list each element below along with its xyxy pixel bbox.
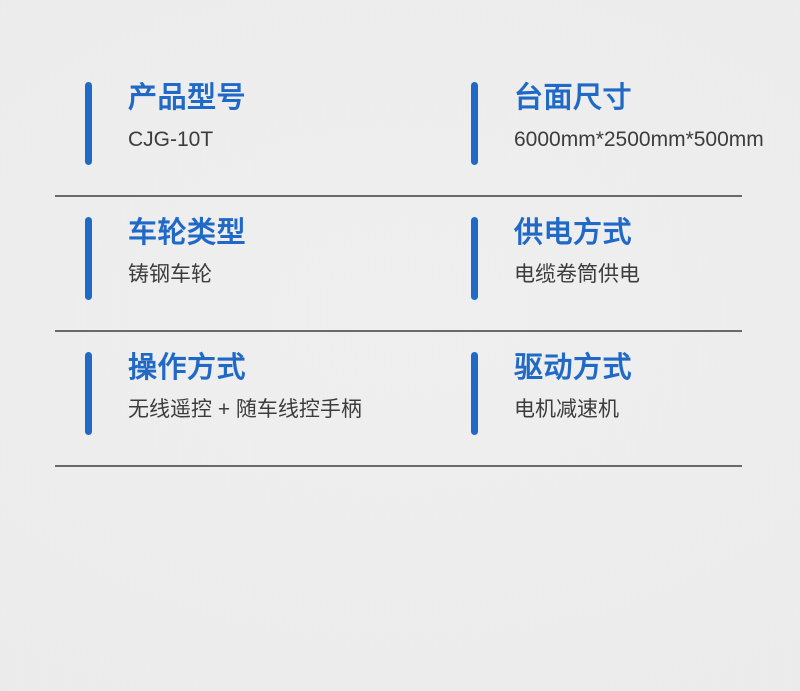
spec-value: 6000mm*2500mm*500mm <box>514 126 764 154</box>
accent-bar-icon <box>85 82 92 165</box>
row-divider <box>55 195 742 197</box>
accent-bar-icon <box>471 82 478 165</box>
spec-title: 车轮类型 <box>128 215 246 252</box>
spec-item-operation-mode: 操作方式 无线遥控 + 随车线控手柄 <box>0 332 393 465</box>
spec-value: 无线遥控 + 随车线控手柄 <box>128 396 362 424</box>
spec-item-product-model: 产品型号 CJG-10T <box>0 62 393 195</box>
spec-item-text: 台面尺寸 6000mm*2500mm*500mm <box>514 80 764 154</box>
accent-bar-icon <box>471 352 478 435</box>
row-divider <box>55 465 742 467</box>
accent-bar-icon <box>85 352 92 435</box>
spec-value: 电机减速机 <box>514 396 632 424</box>
spec-item-text: 驱动方式 电机减速机 <box>514 350 632 424</box>
spec-item-power-supply: 供电方式 电缆卷筒供电 <box>393 197 800 330</box>
accent-bar-icon <box>471 217 478 300</box>
spec-value: 电缆卷筒供电 <box>514 261 640 289</box>
row-divider <box>55 330 742 332</box>
spec-item-wheel-type: 车轮类型 铸钢车轮 <box>0 197 393 330</box>
spec-title: 产品型号 <box>128 80 246 117</box>
specification-list: 产品型号 CJG-10T 台面尺寸 6000mm*2500mm*500mm 车轮… <box>0 0 800 467</box>
spec-item-drive-mode: 驱动方式 电机减速机 <box>393 332 800 465</box>
spec-title: 驱动方式 <box>514 350 632 387</box>
spec-title: 供电方式 <box>514 215 640 252</box>
spec-item-text: 车轮类型 铸钢车轮 <box>128 215 246 289</box>
spec-row: 车轮类型 铸钢车轮 供电方式 电缆卷筒供电 <box>0 197 800 330</box>
accent-bar-icon <box>85 217 92 300</box>
spec-title: 操作方式 <box>128 350 362 387</box>
spec-row: 产品型号 CJG-10T 台面尺寸 6000mm*2500mm*500mm <box>0 62 800 195</box>
spec-item-table-size: 台面尺寸 6000mm*2500mm*500mm <box>393 62 800 195</box>
spec-item-text: 供电方式 电缆卷筒供电 <box>514 215 640 289</box>
spec-title: 台面尺寸 <box>514 80 764 117</box>
spec-item-text: 操作方式 无线遥控 + 随车线控手柄 <box>128 350 362 424</box>
spec-item-text: 产品型号 CJG-10T <box>128 80 246 154</box>
spec-value: 铸钢车轮 <box>128 261 246 289</box>
spec-row: 操作方式 无线遥控 + 随车线控手柄 驱动方式 电机减速机 <box>0 332 800 465</box>
spec-value: CJG-10T <box>128 126 246 154</box>
